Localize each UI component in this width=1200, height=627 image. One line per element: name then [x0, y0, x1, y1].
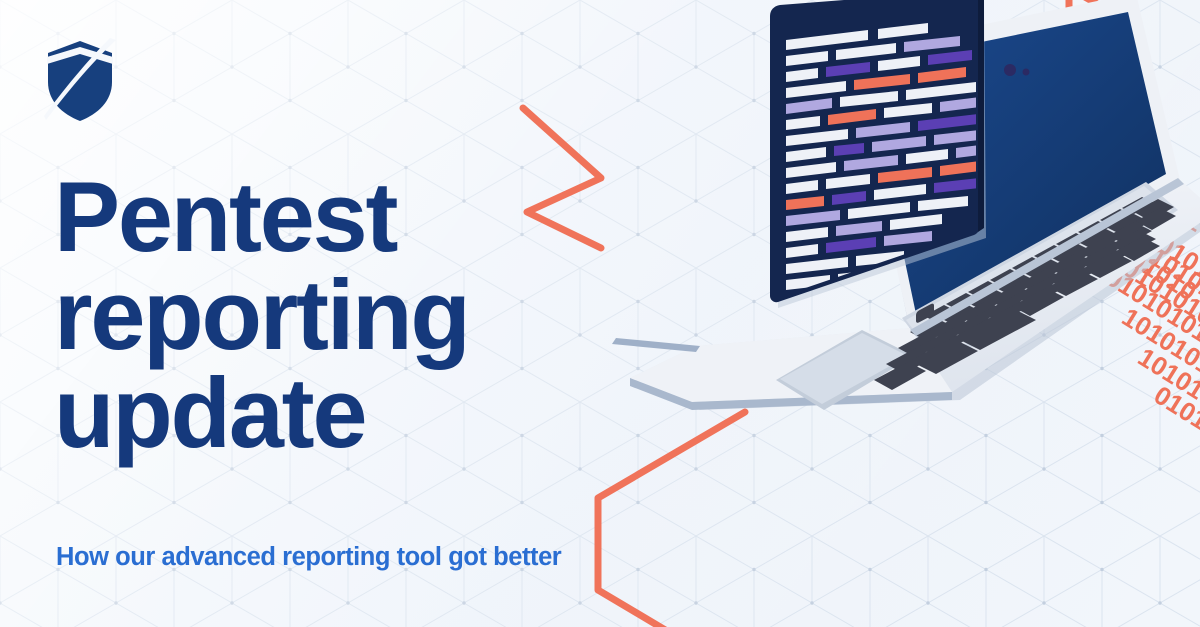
headline-line-1: Pentest [54, 168, 614, 266]
headline-line-3: update [54, 364, 614, 462]
page-subtitle: How our advanced reporting tool got bett… [56, 543, 561, 572]
banner-root: Pentest reporting update How our advance… [0, 0, 1200, 627]
shield-logo-icon [44, 38, 116, 124]
headline-line-2: reporting [54, 266, 614, 364]
page-title: Pentest reporting update [54, 168, 614, 462]
webcam-dot [1004, 64, 1016, 76]
isometric-laptop-illustration [580, 0, 1200, 627]
webcam-dot-small [1023, 69, 1030, 76]
